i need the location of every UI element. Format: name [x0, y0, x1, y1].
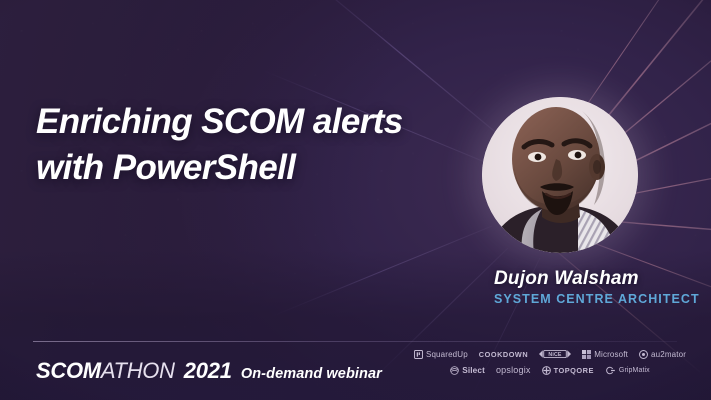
- sponsor-topqore: TOPQORE: [542, 366, 594, 375]
- speaker-role: SYSTEM CENTRE ARCHITECT: [494, 292, 700, 306]
- au2mator-icon: [639, 350, 648, 359]
- sponsor-squaredup: SquaredUp: [414, 350, 468, 359]
- sponsor-gripmatix: GripMatix: [605, 366, 650, 375]
- silect-icon: [450, 366, 459, 375]
- microsoft-icon: [582, 350, 591, 359]
- brand-year-text: 2021: [184, 358, 232, 384]
- nice-icon: NiCE: [539, 349, 571, 359]
- slide-title: Enriching SCOM alerts with PowerShell: [36, 99, 456, 190]
- squaredup-icon: [414, 350, 423, 359]
- speaker-portrait-image: [482, 97, 638, 253]
- sponsor-label: COOKDOWN: [479, 350, 528, 359]
- sponsor-label: au2mator: [651, 350, 686, 359]
- slide-title-line-1: Enriching SCOM alerts: [36, 99, 456, 145]
- svg-text:NiCE: NiCE: [549, 352, 562, 358]
- speaker-portrait: [482, 97, 638, 253]
- gripmatix-icon: [605, 366, 616, 375]
- sponsor-label: TOPQORE: [554, 366, 594, 375]
- footer-divider: [33, 341, 677, 342]
- event-branding: SCOM ATHON 2021 On-demand webinar: [36, 358, 382, 384]
- speaker-name: Dujon Walsham: [494, 268, 639, 290]
- sponsor-microsoft: Microsoft: [582, 350, 628, 359]
- sponsor-au2mator: au2mator: [639, 350, 686, 359]
- topqore-icon: [542, 366, 551, 375]
- slide-title-line-2: with PowerShell: [36, 145, 456, 191]
- sponsor-label: SquaredUp: [426, 350, 468, 359]
- brand-tagline-text: On-demand webinar: [241, 366, 382, 382]
- sponsor-opslogix: opslogix: [496, 365, 531, 375]
- webinar-slide: Enriching SCOM alerts with PowerShell: [0, 0, 711, 400]
- sponsor-label: Microsoft: [594, 350, 628, 359]
- sponsor-row-2: Silect opslogix TOPQORE GripMatix: [450, 365, 650, 375]
- sponsor-nice: NiCE: [539, 349, 571, 359]
- brand-athon-text: ATHON: [101, 358, 175, 384]
- sponsor-cookdown: COOKDOWN: [479, 350, 528, 359]
- sponsor-label: GripMatix: [619, 367, 650, 374]
- brand-scom-text: SCOM: [36, 358, 101, 384]
- sponsor-logo-wall: SquaredUp COOKDOWN NiCE: [405, 349, 695, 375]
- sponsor-silect: Silect: [450, 366, 485, 375]
- sponsor-label: Silect: [462, 366, 485, 375]
- sponsor-row-1: SquaredUp COOKDOWN NiCE: [414, 349, 686, 359]
- sponsor-label: opslogix: [496, 365, 531, 375]
